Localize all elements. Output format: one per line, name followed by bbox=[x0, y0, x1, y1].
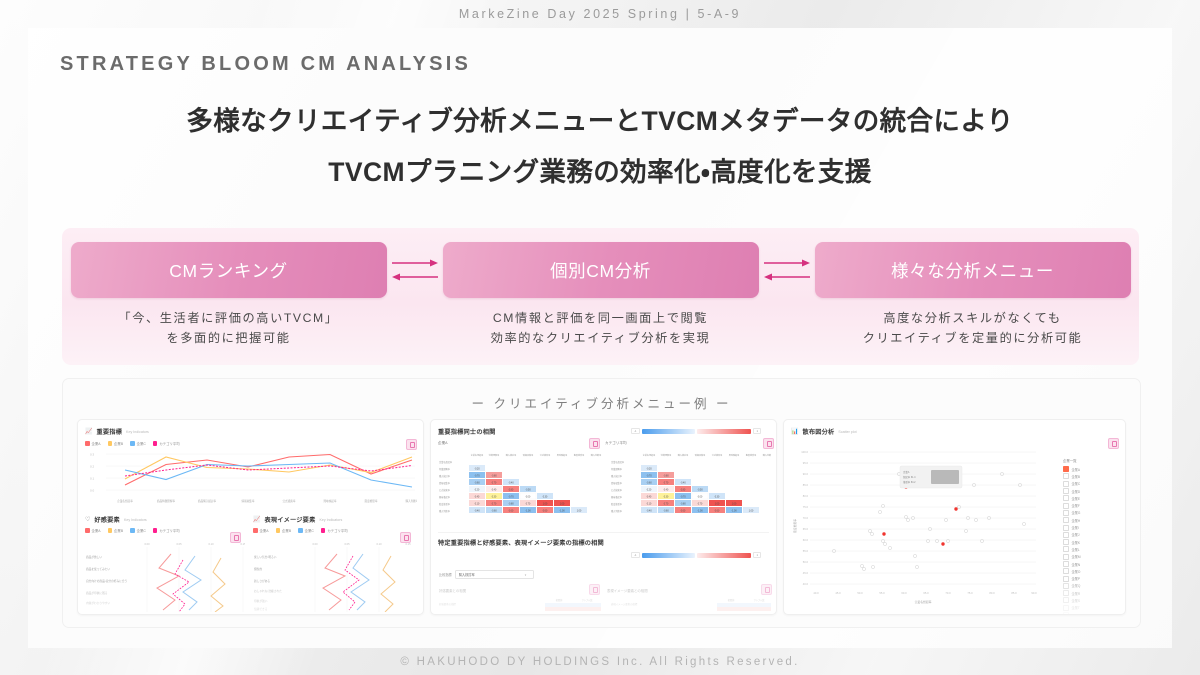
list-item-label: 企業D bbox=[1072, 489, 1081, 494]
panel2-sub-left-export-button[interactable] bbox=[589, 584, 600, 595]
panel1-export-button[interactable] bbox=[406, 439, 417, 450]
legend-label: 企業B bbox=[114, 441, 123, 446]
panel2-select-value[interactable]: 購入検討率 bbox=[455, 570, 534, 579]
svg-text:0.10: 0.10 bbox=[376, 542, 382, 546]
svg-text:65.0: 65.0 bbox=[803, 527, 809, 531]
svg-text:0.00: 0.00 bbox=[312, 542, 318, 546]
legend-label: 企業C bbox=[137, 528, 146, 533]
panel1-subchart1-subtitle: Key Indicators bbox=[124, 518, 147, 522]
panel1-legend: 企業A 企業B 企業C カテゴリ平均 bbox=[85, 441, 416, 446]
svg-text:-1.00: -1.00 bbox=[559, 511, 565, 513]
svg-text:0.1: 0.1 bbox=[90, 477, 95, 481]
list-item: 企業B bbox=[1063, 473, 1119, 480]
checkbox[interactable] bbox=[1063, 466, 1069, 472]
legend-item: 企業A bbox=[85, 441, 101, 446]
list-item-label: 企業Q bbox=[1072, 583, 1081, 588]
list-item-label: 企業F bbox=[1072, 503, 1080, 508]
svg-text:75.0: 75.0 bbox=[967, 591, 973, 595]
scale-min-label: -1 bbox=[631, 428, 640, 434]
svg-text:45.0: 45.0 bbox=[803, 571, 809, 575]
svg-text:50.0: 50.0 bbox=[803, 560, 809, 564]
legend-label: 企業A bbox=[92, 441, 101, 446]
checkbox[interactable] bbox=[1063, 539, 1069, 545]
flow-box-cm-ranking[interactable]: CMランキング bbox=[71, 242, 387, 298]
list-item: 企業T bbox=[1063, 604, 1119, 611]
list-item-label: 企業E bbox=[1072, 496, 1081, 501]
caption-line-2: 効率的なクリエイティブ分析を実現 bbox=[443, 328, 759, 348]
svg-text:態度推奨率: 態度推奨率 bbox=[365, 499, 378, 503]
flow-box-label: 個別CM分析 bbox=[550, 258, 651, 283]
list-item: 企業Q bbox=[1063, 582, 1119, 589]
svg-text:購入判断率: 購入判断率 bbox=[591, 453, 601, 457]
slide-root: MarkeZine Day 2025 Spring | 5-A-9 STRATE… bbox=[0, 0, 1200, 675]
panel2-matrix-right-label: カテゴリ平均 bbox=[605, 441, 627, 446]
list-item-label: 企業N bbox=[1072, 562, 1081, 567]
svg-text:0.05: 0.05 bbox=[176, 542, 182, 546]
panel2-metric-select-group[interactable]: 比較指標 購入検討率 ▾ bbox=[439, 570, 526, 579]
checkbox[interactable] bbox=[1063, 517, 1069, 523]
svg-text:-0.70: -0.70 bbox=[508, 497, 514, 499]
svg-text:商品購入検討率: 商品購入検討率 bbox=[198, 499, 217, 503]
panel1-line-chart: 0.30.20.10.0 企業名想起率商品特徴理解率商品購入検討率 情報収集率公… bbox=[84, 450, 417, 508]
checkbox[interactable] bbox=[1063, 561, 1069, 567]
panel1-subchart2-subtitle: Key Indicators bbox=[319, 518, 342, 522]
checkbox[interactable] bbox=[1063, 546, 1069, 552]
checkbox[interactable] bbox=[1063, 495, 1069, 501]
svg-text:商品が印象に残る: 商品が印象に残る bbox=[86, 591, 108, 595]
svg-text:80.0: 80.0 bbox=[803, 494, 809, 498]
svg-text:特徴理解率: 特徴理解率 bbox=[439, 467, 451, 471]
event-topbar: MarkeZine Day 2025 Spring | 5-A-9 bbox=[0, 0, 1200, 28]
checkbox[interactable] bbox=[1063, 481, 1069, 487]
list-item-label: 企業A bbox=[1072, 467, 1081, 472]
flow-caption-individual-cm-analysis: CM情報と評価を同一画面上で閲覧 効率的なクリエイティブ分析を実現 bbox=[443, 308, 759, 348]
list-item: 企業O bbox=[1063, 568, 1119, 575]
svg-text:60.0: 60.0 bbox=[901, 591, 907, 595]
svg-text:購入検討率: 購入検討率 bbox=[439, 474, 451, 478]
list-item: 企業M bbox=[1063, 553, 1119, 560]
svg-text:想起率 61.4: 想起率 61.4 bbox=[903, 475, 916, 479]
svg-text:態度推奨率: 態度推奨率 bbox=[574, 453, 584, 457]
panel1-subtitle: Key Indicators bbox=[126, 430, 149, 434]
svg-text:-0.20: -0.20 bbox=[474, 469, 480, 471]
svg-text:0.3: 0.3 bbox=[90, 453, 95, 457]
flow-caption-various-analysis-menu: 高度な分析スキルがなくても クリエイティブを定量的に分析可能 bbox=[815, 308, 1131, 348]
svg-text:好感要素の指標: 好感要素の指標 bbox=[439, 602, 456, 606]
list-item-label: 企業L bbox=[1072, 547, 1080, 552]
svg-text:55.0: 55.0 bbox=[879, 591, 885, 595]
line-chart-icon: 📈 bbox=[85, 429, 92, 435]
svg-text:55.0: 55.0 bbox=[803, 549, 809, 553]
svg-text:新しさがある: 新しさがある bbox=[254, 579, 270, 583]
svg-text:公式検索率: 公式検索率 bbox=[283, 499, 296, 503]
headline-line-2: TVCMプラニング業務の効率化・高度化を支援 bbox=[0, 159, 1200, 186]
svg-text:内容がわかりやすい: 内容がわかりやすい bbox=[86, 601, 110, 605]
panel3-company-list[interactable]: 企業一覧 企業A 企業B 企業C 企業D 企業E 企業F 企業G 企業H 企業I… bbox=[1063, 458, 1119, 615]
svg-text:0.30: 0.30 bbox=[492, 497, 497, 499]
arrow-left-icon bbox=[764, 272, 810, 282]
list-item: 企業E bbox=[1063, 495, 1119, 502]
copyright-text: © HAKUHODO DY HOLDINGS Inc. All Rights R… bbox=[400, 656, 799, 668]
svg-text:60.0: 60.0 bbox=[803, 538, 809, 542]
legend-label: 企業C bbox=[137, 441, 146, 446]
svg-text:-1.00: -1.00 bbox=[525, 511, 531, 513]
svg-text:企業名想起率: 企業名想起率 bbox=[117, 499, 133, 503]
panel2-heatmaps: 企業名想起率特徴理解率購入検討率 情報収集率公式検索率興味喚起率 態度推奨率購入… bbox=[437, 448, 771, 526]
list-item: 企業S bbox=[1063, 597, 1119, 604]
list-item-label: 企業R bbox=[1072, 591, 1081, 596]
checkbox[interactable] bbox=[1063, 568, 1069, 574]
checkbox[interactable] bbox=[1063, 488, 1069, 494]
svg-text:企業名想起率: 企業名想起率 bbox=[915, 600, 932, 604]
svg-text:100.0: 100.0 bbox=[801, 450, 808, 454]
legend-label: 企業C bbox=[305, 528, 314, 533]
svg-text:興味喚起率: 興味喚起率 bbox=[557, 453, 567, 457]
panel2-select-label: 比較指標 bbox=[439, 572, 452, 577]
svg-text:情報収集率: 情報収集率 bbox=[523, 453, 533, 457]
list-item-label: 企業T bbox=[1072, 605, 1080, 610]
legend-label: 企業B bbox=[282, 528, 291, 533]
svg-text:-0.40: -0.40 bbox=[474, 511, 480, 513]
svg-text:推奨率 84.2: 推奨率 84.2 bbox=[903, 480, 916, 484]
legend-swatch bbox=[153, 441, 158, 446]
flow-arrows-2 bbox=[759, 242, 815, 298]
svg-text:-0.60: -0.60 bbox=[474, 483, 480, 485]
list-item-label: 企業C bbox=[1072, 481, 1081, 486]
panel2-bottom-title: 特定重要指標と好感要素、表現イメージ要素の指標の相関 bbox=[438, 538, 604, 547]
svg-text:購入検討率: 購入検討率 bbox=[506, 453, 516, 457]
screenshot-panel-key-indicators[interactable]: 📈 重要指標 Key Indicators 企業A 企業B 企業C カテゴリ平均 bbox=[77, 419, 424, 615]
legend-label: カテゴリ平均 bbox=[159, 441, 179, 446]
heart-icon: ♡ bbox=[85, 517, 90, 523]
panel2-sub-right-export-button[interactable] bbox=[761, 584, 772, 595]
svg-text:0.40: 0.40 bbox=[475, 497, 480, 499]
checkbox[interactable] bbox=[1063, 605, 1069, 611]
list-item: 企業D bbox=[1063, 487, 1119, 494]
svg-text:企業名想起率: 企業名想起率 bbox=[471, 453, 483, 457]
caption-line-1: CM情報と評価を同一画面上で閲覧 bbox=[443, 308, 759, 328]
svg-text:0.15: 0.15 bbox=[240, 542, 245, 546]
legend-item: カテゴリ平均 bbox=[153, 441, 180, 446]
panel1-subchart1-header: ♡ 好感要素 Key Indicators bbox=[85, 515, 245, 524]
line-chart-icon: 📈 bbox=[253, 517, 260, 523]
svg-text:40.0: 40.0 bbox=[813, 591, 819, 595]
flow-arrows-1 bbox=[387, 242, 443, 298]
checkbox[interactable] bbox=[1063, 576, 1069, 582]
flow-band: CMランキング 個別CM分析 bbox=[62, 228, 1139, 365]
svg-text:45.0: 45.0 bbox=[835, 591, 841, 595]
svg-text:態度推奨率: 態度推奨率 bbox=[439, 502, 451, 506]
svg-text:-0.70: -0.70 bbox=[474, 476, 480, 478]
svg-text:情報収集率: 情報収集率 bbox=[439, 481, 451, 485]
arrow-right-icon bbox=[764, 258, 810, 268]
svg-text:80.0: 80.0 bbox=[989, 591, 995, 595]
checkbox[interactable] bbox=[1063, 597, 1069, 603]
flow-box-label: 様々な分析メニュー bbox=[891, 258, 1054, 283]
list-item-label: 企業K bbox=[1072, 540, 1081, 545]
list-item-label: 企業P bbox=[1072, 576, 1081, 581]
svg-text:商品が欲しい: 商品が欲しい bbox=[86, 555, 102, 559]
svg-text:0.60: 0.60 bbox=[543, 511, 548, 513]
panel1-subchart2: 0.000.050.100.15 楽しい気分・明るい個性的新しさがある おしゃれ… bbox=[253, 540, 413, 612]
list-item: 企業I bbox=[1063, 524, 1119, 531]
screenshots-section: ー クリエイティブ分析メニュー例 ー 📈 重要指標 Key Indicators… bbox=[62, 378, 1141, 628]
legend-label: カテゴリ平均 bbox=[159, 528, 179, 533]
svg-text:購入判断率: 購入判断率 bbox=[406, 499, 417, 503]
list-item: 企業A bbox=[1063, 466, 1119, 473]
panel3-subtitle: Scatter plot bbox=[838, 430, 856, 434]
caption-line-1: 高度な分析スキルがなくても bbox=[815, 308, 1131, 328]
svg-text:-0.60: -0.60 bbox=[491, 511, 497, 513]
legend-label: 企業B bbox=[114, 528, 123, 533]
panel1-title: 重要指標 bbox=[96, 427, 122, 436]
panel2-title: 重要指標同士の相関 bbox=[438, 427, 496, 436]
panel3-list-title: 企業一覧 bbox=[1063, 458, 1119, 463]
svg-text:0.70: 0.70 bbox=[492, 504, 497, 506]
panel3-title: 散布図分析 bbox=[802, 427, 834, 436]
section-eyebrow: STRATEGY BLOOM CM ANALYSIS bbox=[60, 53, 471, 76]
event-title: MarkeZine Day 2025 Spring | 5-A-9 bbox=[459, 7, 741, 21]
checkbox[interactable] bbox=[1063, 612, 1069, 615]
list-item: 企業F bbox=[1063, 502, 1119, 509]
checkbox[interactable] bbox=[1063, 532, 1069, 538]
svg-text:1.00: 1.00 bbox=[577, 511, 582, 513]
panel2-color-scale: -1 1 bbox=[631, 428, 761, 434]
svg-text:態度推奨率: 態度推奨率 bbox=[793, 519, 797, 533]
svg-text:0.15: 0.15 bbox=[405, 542, 411, 546]
panel1-subchart1-legend: 企業A 企業B 企業C カテゴリ平均 bbox=[85, 528, 245, 533]
flow-captions-row: 「今、生活者に評価の高いTVCM」 を多面的に把握可能 CM情報と評価を同一画面… bbox=[62, 308, 1139, 348]
svg-text:おしゃれな・洗練された: おしゃれな・洗練された bbox=[254, 589, 282, 593]
page-title: 多様なクリエイティブ分析メニューとTVCMメタデータの統合により TVCMプラニ… bbox=[0, 108, 1200, 185]
svg-text:-0.40: -0.40 bbox=[508, 483, 514, 485]
list-item: 企業G bbox=[1063, 509, 1119, 516]
svg-text:70.0: 70.0 bbox=[945, 591, 951, 595]
svg-text:0.10: 0.10 bbox=[208, 542, 214, 546]
list-item: 企業J bbox=[1063, 531, 1119, 538]
svg-text:サンプル数: サンプル数 bbox=[582, 598, 594, 602]
legend-swatch bbox=[130, 441, 135, 446]
svg-text:相関値: 相関値 bbox=[728, 598, 735, 602]
panel2-matrix-left-label: 企業A bbox=[438, 441, 448, 446]
legend-label: カテゴリ平均 bbox=[327, 528, 347, 533]
list-item-label: 企業S bbox=[1072, 598, 1081, 603]
svg-text:0.80: 0.80 bbox=[509, 490, 514, 492]
screenshot-panel-scatter[interactable]: 📊 散布図分析 Scatter plot 100.095.090.085.0 bbox=[783, 419, 1126, 615]
svg-text:0.60: 0.60 bbox=[509, 511, 514, 513]
svg-text:商品を使ってみたい: 商品を使ってみたい bbox=[86, 567, 110, 571]
svg-text:サンプル数: サンプル数 bbox=[754, 598, 766, 602]
svg-text:企業名想起率: 企業名想起率 bbox=[439, 460, 453, 464]
checkbox[interactable] bbox=[1063, 525, 1069, 531]
svg-text:楽しい気分・明るい: 楽しい気分・明るい bbox=[254, 555, 277, 559]
panel1-subchart2-header: 📈 表現イメージ要素 Key Indicators bbox=[253, 515, 413, 524]
list-item: 企業R bbox=[1063, 590, 1119, 597]
svg-text:公式検索率: 公式検索率 bbox=[540, 453, 550, 457]
svg-text:85.0: 85.0 bbox=[803, 483, 809, 487]
list-item-label: 企業U bbox=[1072, 613, 1081, 615]
panel2-sub-left-title: 好感要素との相関 bbox=[439, 588, 466, 593]
flow-boxes-row: CMランキング 個別CM分析 bbox=[62, 242, 1139, 298]
svg-text:90.0: 90.0 bbox=[1031, 591, 1037, 595]
legend-swatch bbox=[85, 441, 90, 446]
checkbox[interactable] bbox=[1063, 503, 1069, 509]
list-item-label: 企業M bbox=[1072, 554, 1081, 559]
caption-line-2: クリエイティブを定量的に分析可能 bbox=[815, 328, 1131, 348]
svg-text:0.20: 0.20 bbox=[475, 490, 480, 492]
svg-text:興味喚起率: 興味喚起率 bbox=[439, 495, 451, 499]
svg-text:表現イメージ要素の指標: 表現イメージ要素の指標 bbox=[611, 602, 638, 606]
checkbox[interactable] bbox=[1063, 554, 1069, 560]
arrow-right-icon bbox=[392, 258, 438, 268]
screenshot-panel-correlation[interactable]: 重要指標同士の相関 企業A -1 1 カテゴリ平均 企業名想起率特徴理解率購入検… bbox=[430, 419, 777, 615]
arrow-left-icon bbox=[392, 272, 438, 282]
bar-chart-icon: 📊 bbox=[791, 429, 798, 435]
checkbox[interactable] bbox=[1063, 473, 1069, 479]
list-item-label: 企業H bbox=[1072, 518, 1081, 523]
svg-text:購入判断率: 購入判断率 bbox=[439, 509, 451, 513]
screenshot-panels: 📈 重要指標 Key Indicators 企業A 企業B 企業C カテゴリ平均 bbox=[77, 419, 1126, 615]
svg-text:90.0: 90.0 bbox=[803, 472, 809, 476]
svg-text:0.10: 0.10 bbox=[475, 504, 480, 506]
svg-text:75.0: 75.0 bbox=[803, 505, 809, 509]
scale-max-label: 1 bbox=[753, 428, 761, 434]
svg-text:商品特徴理解率: 商品特徴理解率 bbox=[157, 499, 176, 503]
checkbox[interactable] bbox=[1063, 510, 1069, 516]
svg-text:95.0: 95.0 bbox=[803, 461, 809, 465]
svg-text:0.0: 0.0 bbox=[90, 489, 95, 493]
list-item: 企業L bbox=[1063, 546, 1119, 553]
svg-text:自分向けの商品・自分の好みに合う: 自分向けの商品・自分の好みに合う bbox=[86, 579, 128, 583]
panel3-header: 📊 散布図分析 Scatter plot bbox=[791, 427, 857, 436]
svg-text:1.00: 1.00 bbox=[543, 504, 548, 506]
scale-min-label: -1 bbox=[631, 552, 640, 558]
svg-text:企業A: 企業A bbox=[903, 470, 910, 474]
svg-text:0.00: 0.00 bbox=[144, 542, 150, 546]
panel3-tooltip: 企業A想起率 61.4推奨率 84.2 bbox=[900, 466, 962, 488]
svg-text:個性的: 個性的 bbox=[254, 567, 262, 571]
svg-text:50.0: 50.0 bbox=[857, 591, 863, 595]
panel1-header: 📈 重要指標 Key Indicators bbox=[85, 427, 416, 436]
svg-text:0.40: 0.40 bbox=[492, 490, 497, 492]
legend-swatch bbox=[108, 441, 113, 446]
svg-text:0.2: 0.2 bbox=[90, 465, 95, 469]
svg-text:0.05: 0.05 bbox=[344, 542, 350, 546]
svg-text:0.70: 0.70 bbox=[526, 504, 531, 506]
checkbox[interactable] bbox=[1063, 583, 1069, 589]
screenshots-section-title: ー クリエイティブ分析メニュー例 ー bbox=[63, 393, 1140, 412]
panel1-subchart1: 0.000.050.100.15 商品が欲しい商品を使ってみたい自分向けの商品・… bbox=[85, 540, 245, 612]
panel3-export-button[interactable] bbox=[1108, 438, 1119, 449]
svg-text:情報収集率: 情報収集率 bbox=[242, 499, 255, 503]
list-item: 企業P bbox=[1063, 575, 1119, 582]
list-item-label: 企業J bbox=[1072, 532, 1080, 537]
panel2-bottom-tables: 好感要素の指標表現イメージ要素の指標 相関値サンプル数 相関値サンプル数 bbox=[437, 596, 771, 615]
svg-text:40.0: 40.0 bbox=[803, 582, 809, 586]
svg-text:-0.80: -0.80 bbox=[491, 476, 497, 478]
panel2-bottom-color-scale: -1 1 bbox=[631, 552, 761, 558]
svg-text:65.0: 65.0 bbox=[923, 591, 929, 595]
flow-caption-cm-ranking: 「今、生活者に評価の高いTVCM」 を多面的に把握可能 bbox=[71, 308, 387, 348]
copyright-footer: © HAKUHODO DY HOLDINGS Inc. All Rights R… bbox=[0, 648, 1200, 675]
caption-line-1: 「今、生活者に評価の高いTVCM」 bbox=[71, 308, 387, 328]
svg-text:1.00: 1.00 bbox=[560, 504, 565, 506]
caption-spacer bbox=[759, 308, 815, 348]
list-item: 企業C bbox=[1063, 480, 1119, 487]
flow-box-label: CMランキング bbox=[169, 258, 287, 283]
svg-text:70.0: 70.0 bbox=[803, 516, 809, 520]
list-item: 企業K bbox=[1063, 538, 1119, 545]
panel1-subchart1-title: 好感要素 bbox=[94, 515, 120, 524]
legend-label: 企業A bbox=[260, 528, 269, 533]
checkbox[interactable] bbox=[1063, 590, 1069, 596]
svg-text:0.30: 0.30 bbox=[543, 497, 548, 499]
list-item-label: 企業O bbox=[1072, 569, 1081, 574]
legend-item: 企業B bbox=[108, 441, 124, 446]
legend-label: 企業A bbox=[92, 528, 101, 533]
caption-spacer bbox=[387, 308, 443, 348]
panel3-scatter-chart: 100.095.090.085.0 80.075.070.065.0 60.05… bbox=[788, 446, 1038, 611]
list-item: 企業H bbox=[1063, 517, 1119, 524]
svg-text:-0.50: -0.50 bbox=[525, 490, 531, 492]
svg-text:興味喚起率: 興味喚起率 bbox=[324, 499, 337, 503]
svg-text:印象が強い: 印象が強い bbox=[254, 599, 268, 603]
svg-text:85.0: 85.0 bbox=[1011, 591, 1017, 595]
flow-box-individual-cm-analysis[interactable]: 個別CM分析 bbox=[443, 242, 759, 298]
panel1-subchart2-title: 表現イメージ要素 bbox=[264, 515, 315, 524]
flow-box-various-analysis-menu[interactable]: 様々な分析メニュー bbox=[815, 242, 1131, 298]
svg-text:信頼できる: 信頼できる bbox=[254, 607, 268, 611]
scale-max-label: 1 bbox=[753, 552, 761, 558]
headline-line-1: 多様なクリエイティブ分析メニューとTVCMメタデータの統合により bbox=[0, 108, 1200, 135]
svg-text:-0.80: -0.80 bbox=[508, 504, 514, 506]
panel2-sub-right-title: 表現イメージ要素との相関 bbox=[607, 588, 648, 593]
list-item-label: 企業G bbox=[1072, 510, 1081, 515]
list-item: 企業U bbox=[1063, 611, 1119, 615]
svg-text:特徴理解率: 特徴理解率 bbox=[489, 453, 499, 457]
svg-text:0.00: 0.00 bbox=[526, 497, 531, 499]
caption-line-2: を多面的に把握可能 bbox=[71, 328, 387, 348]
panel1-subchart2-legend: 企業A 企業B 企業C カテゴリ平均 bbox=[253, 528, 413, 533]
svg-text:相関値: 相関値 bbox=[556, 598, 563, 602]
list-item-label: 企業B bbox=[1072, 474, 1081, 479]
list-item-label: 企業I bbox=[1072, 525, 1079, 530]
svg-text:0.70: 0.70 bbox=[492, 483, 497, 485]
svg-text:公式検索率: 公式検索率 bbox=[439, 488, 451, 492]
legend-item: 企業C bbox=[130, 441, 146, 446]
list-item: 企業N bbox=[1063, 560, 1119, 567]
